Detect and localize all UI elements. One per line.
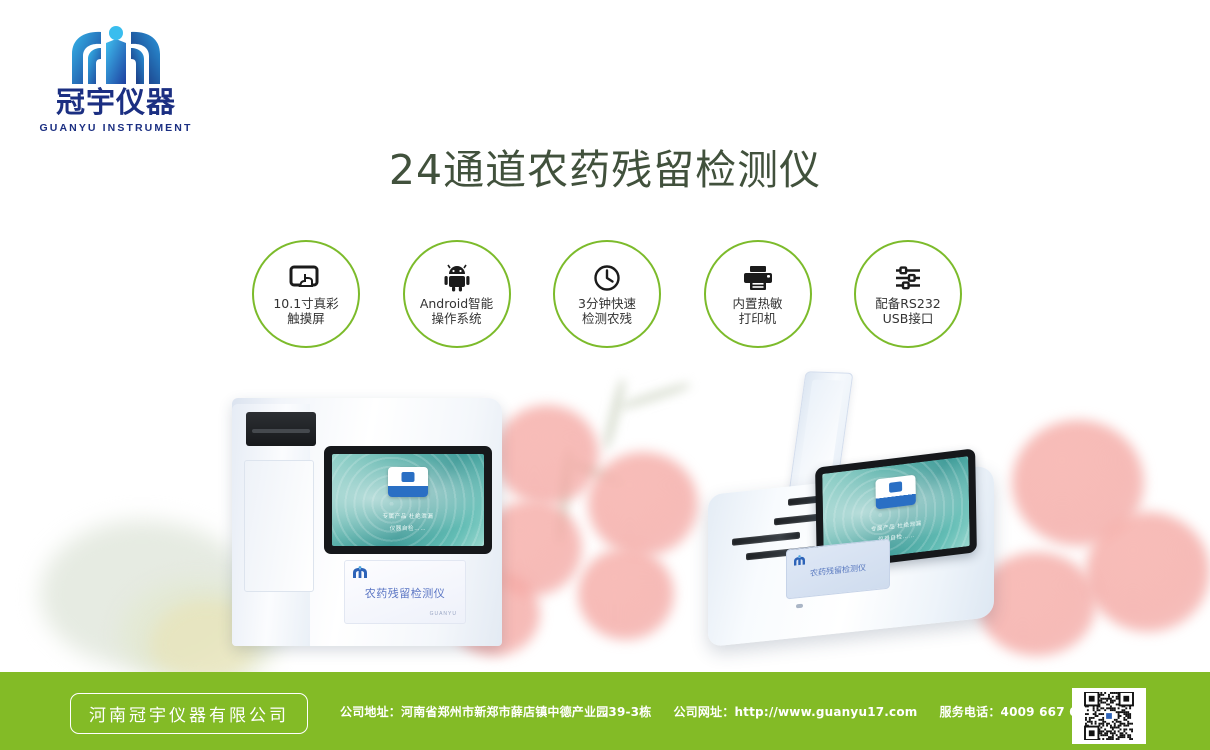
touchscreen-icon xyxy=(289,263,323,293)
company-website[interactable]: 公司网址：http://www.guanyu17.com xyxy=(673,703,917,720)
android-robot-icon xyxy=(443,263,471,293)
boot-logo-badge xyxy=(388,467,428,497)
company-name-badge: 河南冠宇仪器有限公司 xyxy=(70,693,308,734)
feature-label: Android智能 操作系统 xyxy=(420,296,493,326)
feature-label: 内置热敏 打印机 xyxy=(732,296,782,326)
contact-info: 公司地址：河南省郑州市新郑市薛店镇中德产业园39-3栋 公司网址：http://… xyxy=(340,703,1095,720)
sample-drawer xyxy=(244,460,314,592)
device-left-label-sub: GUANYU xyxy=(430,611,457,617)
feature-android-os: Android智能 操作系统 xyxy=(403,240,511,348)
guanyu-emblem-icon xyxy=(68,26,164,88)
device-left-front-label: 农药残留检测仪 GUANYU xyxy=(344,560,466,624)
feature-thermal-printer: 内置热敏 打印机 xyxy=(704,240,812,348)
feature-touchscreen: 10.1寸真彩 触摸屏 xyxy=(252,240,360,348)
label-logo-icon xyxy=(352,566,368,579)
label-logo-icon xyxy=(793,552,806,564)
boot-line-1: 专属产品 杜绝泄漏 xyxy=(332,512,484,520)
feature-fast-detection: 3分钟快速 检测农残 xyxy=(553,240,661,348)
feature-label: 3分钟快速 检测农残 xyxy=(578,296,636,326)
device-right: 专属产品 杜绝泄漏 仪器自检…… 农药残留检测仪 xyxy=(700,372,996,652)
brand-logo: 冠宇仪器 GUANYU INSTRUMENT xyxy=(36,26,196,138)
feature-label: 配备RS232 USB接口 xyxy=(875,296,940,326)
product-poster: 冠宇仪器 GUANYU INSTRUMENT 24通道农药残留检测仪 10.1寸… xyxy=(0,0,1210,750)
page-title: 24通道农药残留检测仪 xyxy=(0,136,1210,196)
sample-channel-row xyxy=(732,532,800,546)
device-left-screen: 专属产品 杜绝泄漏 仪器自检…… xyxy=(332,454,484,546)
printer-icon xyxy=(743,263,773,293)
sliders-icon xyxy=(893,263,923,293)
device-left: 专属产品 杜绝泄漏 仪器自检…… 农药残留检测仪 GUANYU xyxy=(232,398,502,646)
qr-code-icon[interactable] xyxy=(1072,688,1146,744)
feature-interfaces: 配备RS232 USB接口 xyxy=(854,240,962,348)
logo-name-cn: 冠宇仪器 xyxy=(36,88,196,117)
device-left-screen-bezel: 专属产品 杜绝泄漏 仪器自检…… xyxy=(324,446,492,554)
boot-line-2: 仪器自检…… xyxy=(332,524,484,532)
thermal-printer-slot xyxy=(246,412,316,446)
logo-name-en: GUANYU INSTRUMENT xyxy=(36,122,196,134)
feature-label: 10.1寸真彩 触摸屏 xyxy=(273,296,338,326)
device-left-label-text: 农药残留检测仪 xyxy=(345,585,465,601)
clock-icon xyxy=(593,263,621,293)
company-address: 公司地址：河南省郑州市新郑市薛店镇中德产业园39-3栋 xyxy=(340,703,651,720)
feature-list: 10.1寸真彩 触摸屏 Android智能 操作系统 xyxy=(252,240,962,352)
boot-logo-badge xyxy=(875,475,916,510)
